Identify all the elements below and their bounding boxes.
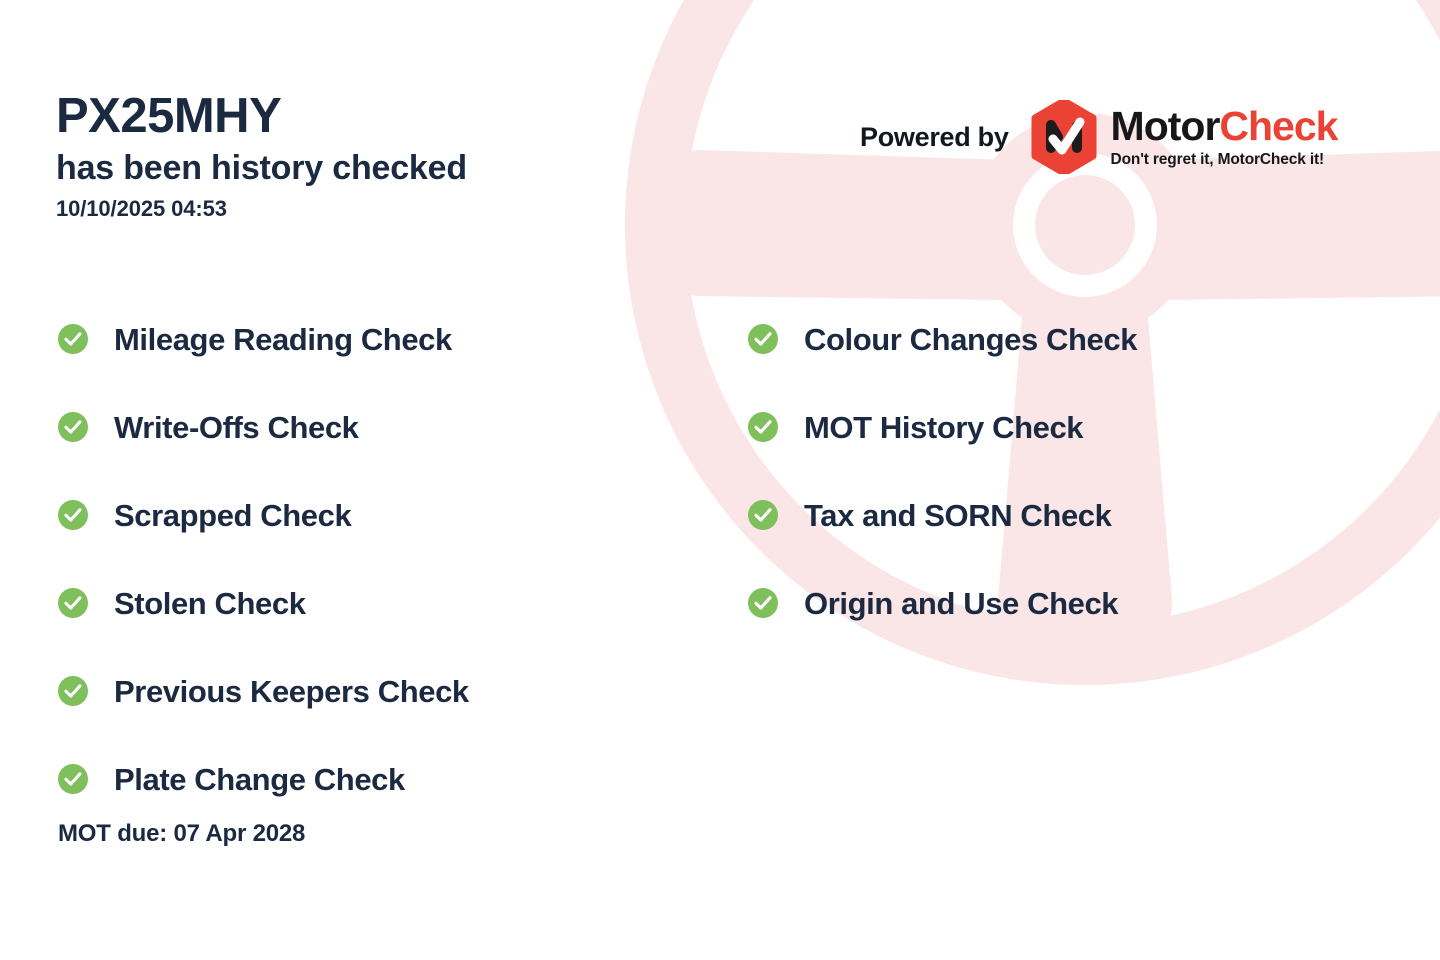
check-timestamp: 10/10/2025 04:53 [56,196,467,222]
page-subtitle: has been history checked [56,148,467,188]
check-label: Tax and SORN Check [804,500,1111,531]
check-circle-icon [58,500,88,530]
check-circle-icon [58,676,88,706]
list-item: Tax and SORN Check [748,471,1137,559]
check-circle-icon [748,324,778,354]
check-label: MOT History Check [804,412,1083,443]
list-item: Write-Offs Check [58,383,469,471]
check-label: Mileage Reading Check [114,324,452,355]
brand-lockup: Powered by MotorCheck Don't regret it, M… [860,100,1337,174]
list-item: Colour Changes Check [748,295,1137,383]
list-item: Mileage Reading Check [58,295,469,383]
mot-due-label: MOT due: 07 Apr 2028 [58,820,305,848]
checks-list-right: Colour Changes Check MOT History Check T… [748,295,1137,647]
check-label: Plate Change Check [114,764,405,795]
list-item: Plate Change Check [58,735,469,823]
check-circle-icon [58,588,88,618]
list-item: Previous Keepers Check [58,647,469,735]
wordmark-motor: Motor [1111,103,1220,149]
brand-tagline: Don't regret it, MotorCheck it! [1111,151,1338,169]
list-item: MOT History Check [748,383,1137,471]
check-circle-icon [748,500,778,530]
powered-by-label: Powered by [860,122,1009,153]
vehicle-header: PX25MHY has been history checked 10/10/2… [56,92,467,222]
check-circle-icon [748,412,778,442]
check-label: Write-Offs Check [114,412,359,443]
check-circle-icon [58,764,88,794]
check-label: Origin and Use Check [804,588,1118,619]
history-check-card: PX25MHY has been history checked 10/10/2… [0,0,1440,960]
checks-list-left: Mileage Reading Check Write-Offs Check S… [58,295,469,823]
check-circle-icon [58,412,88,442]
check-label: Previous Keepers Check [114,676,469,707]
motorcheck-hexagon-logo-icon [1031,100,1097,174]
check-label: Scrapped Check [114,500,351,531]
check-label: Stolen Check [114,588,306,619]
list-item: Scrapped Check [58,471,469,559]
check-label: Colour Changes Check [804,324,1137,355]
page-title: PX25MHY [56,92,467,142]
brand-wordmark-group: MotorCheck Don't regret it, MotorCheck i… [1111,106,1338,169]
check-circle-icon [58,324,88,354]
brand-wordmark: MotorCheck [1111,106,1338,147]
list-item: Origin and Use Check [748,559,1137,647]
wordmark-check: Check [1219,103,1337,149]
check-circle-icon [748,588,778,618]
list-item: Stolen Check [58,559,469,647]
